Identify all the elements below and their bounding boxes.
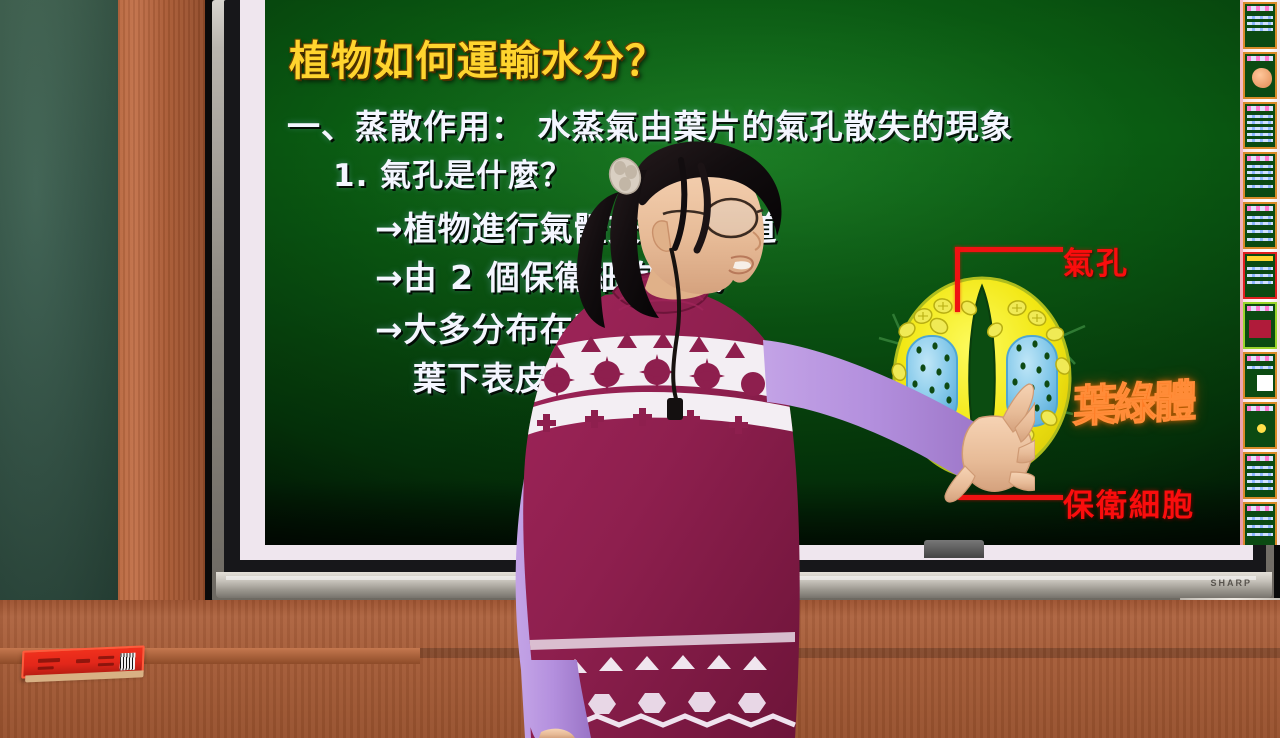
thumb-text-line bbox=[1247, 216, 1273, 219]
thumb-title-bar bbox=[1247, 406, 1273, 411]
thumb-text-line bbox=[1247, 487, 1273, 490]
eraser-marking bbox=[76, 659, 90, 664]
sharp-brand-logo: SHARP bbox=[1210, 578, 1252, 588]
thumb-text-line bbox=[1247, 139, 1273, 142]
thumb-text-line bbox=[1247, 267, 1273, 270]
thumb-text-line bbox=[1247, 473, 1273, 476]
lapel-mic bbox=[667, 398, 683, 420]
thumb-highlight-dot bbox=[1257, 424, 1266, 433]
thumb-title-bar bbox=[1247, 106, 1273, 111]
thumb-text-line bbox=[1247, 115, 1273, 118]
eraser-marking bbox=[38, 666, 54, 670]
slide-thumbnail-11[interactable] bbox=[1243, 502, 1277, 545]
thumb-text-line bbox=[1247, 366, 1273, 369]
classroom-scene: 植物如何運輸水分？ 一、蒸散作用： 水蒸氣由葉片的氣孔散失的現象 1. 氣孔是什… bbox=[0, 0, 1280, 738]
thumb-text-line bbox=[1247, 177, 1273, 180]
thumb-text-line bbox=[1247, 517, 1273, 520]
eraser-marking bbox=[38, 658, 60, 663]
slide-thumbnail-4[interactable] bbox=[1243, 152, 1277, 199]
slide-thumbnail-8[interactable] bbox=[1243, 352, 1277, 399]
thumb-text-line bbox=[1247, 16, 1273, 19]
thumb-text-line bbox=[1247, 165, 1273, 168]
glasses-lens bbox=[707, 201, 755, 235]
thumb-text-line bbox=[1247, 480, 1273, 483]
thumb-title-bar bbox=[1247, 156, 1273, 161]
thumb-text-line bbox=[1247, 525, 1273, 528]
thumb-title-bar bbox=[1247, 206, 1273, 211]
guard-cell-label: 保衛細胞 bbox=[1063, 480, 1195, 525]
thumb-text-line bbox=[1247, 171, 1273, 174]
thumb-blank-region bbox=[1257, 375, 1273, 391]
stoma-label: 氣孔 bbox=[1063, 238, 1129, 283]
thumb-text-line bbox=[1247, 222, 1273, 225]
teacher-svg bbox=[495, 140, 1035, 738]
slide-thumbnail-1[interactable] bbox=[1243, 2, 1277, 49]
slide-thumbnail-5[interactable] bbox=[1243, 202, 1277, 249]
eraser-marking bbox=[98, 663, 114, 667]
thumb-title-bar bbox=[1247, 306, 1273, 311]
thumb-text-line bbox=[1247, 533, 1273, 536]
thumb-title-bar bbox=[1247, 506, 1273, 511]
thumb-text-line bbox=[1247, 274, 1273, 277]
thumb-text-line bbox=[1247, 28, 1273, 31]
thumb-text-line bbox=[1247, 133, 1273, 136]
wooden-pillar bbox=[118, 0, 208, 640]
eraser-marking bbox=[98, 656, 114, 660]
teacher-teeth bbox=[733, 261, 751, 269]
slide-thumbnail-2[interactable] bbox=[1243, 52, 1277, 99]
thumb-text-line bbox=[1247, 238, 1273, 241]
slide-thumbnail-9[interactable] bbox=[1243, 402, 1277, 449]
thumb-text-line bbox=[1247, 121, 1273, 124]
thumb-text-line bbox=[1247, 281, 1273, 284]
slide-thumbnail-6-current[interactable] bbox=[1243, 252, 1277, 299]
thumb-text-line bbox=[1247, 466, 1273, 469]
thumb-table-block bbox=[1249, 320, 1271, 338]
filmstrip-left-edge bbox=[1240, 0, 1243, 545]
chalk-eraser[interactable] bbox=[21, 645, 145, 678]
thumb-title-bar bbox=[1247, 356, 1273, 361]
green-chalkboard-wall bbox=[0, 0, 120, 640]
slide-thumbnail-7-selected[interactable] bbox=[1243, 302, 1277, 349]
slide-thumbnail-3[interactable] bbox=[1243, 102, 1277, 149]
thumb-text-line bbox=[1247, 22, 1273, 25]
slide-thumbnail-strip[interactable] bbox=[1240, 0, 1280, 545]
chloroplast-ink-annotation: 葉綠體 bbox=[1073, 365, 1194, 435]
slide-thumbnail-10[interactable] bbox=[1243, 452, 1277, 499]
thumb-title-bar bbox=[1247, 6, 1273, 11]
thumb-text-line bbox=[1247, 230, 1273, 233]
thumb-text-line bbox=[1247, 127, 1273, 130]
thumb-text-line bbox=[1247, 185, 1273, 188]
thumb-title-bar bbox=[1247, 256, 1273, 261]
thumb-title-bar bbox=[1247, 56, 1273, 61]
teacher-figure bbox=[495, 140, 1035, 738]
eraser-barcode-label bbox=[120, 653, 136, 671]
thumb-title-bar bbox=[1247, 456, 1273, 461]
thumb-photo bbox=[1252, 68, 1272, 88]
teacher-right-sleeve bbox=[763, 340, 995, 477]
